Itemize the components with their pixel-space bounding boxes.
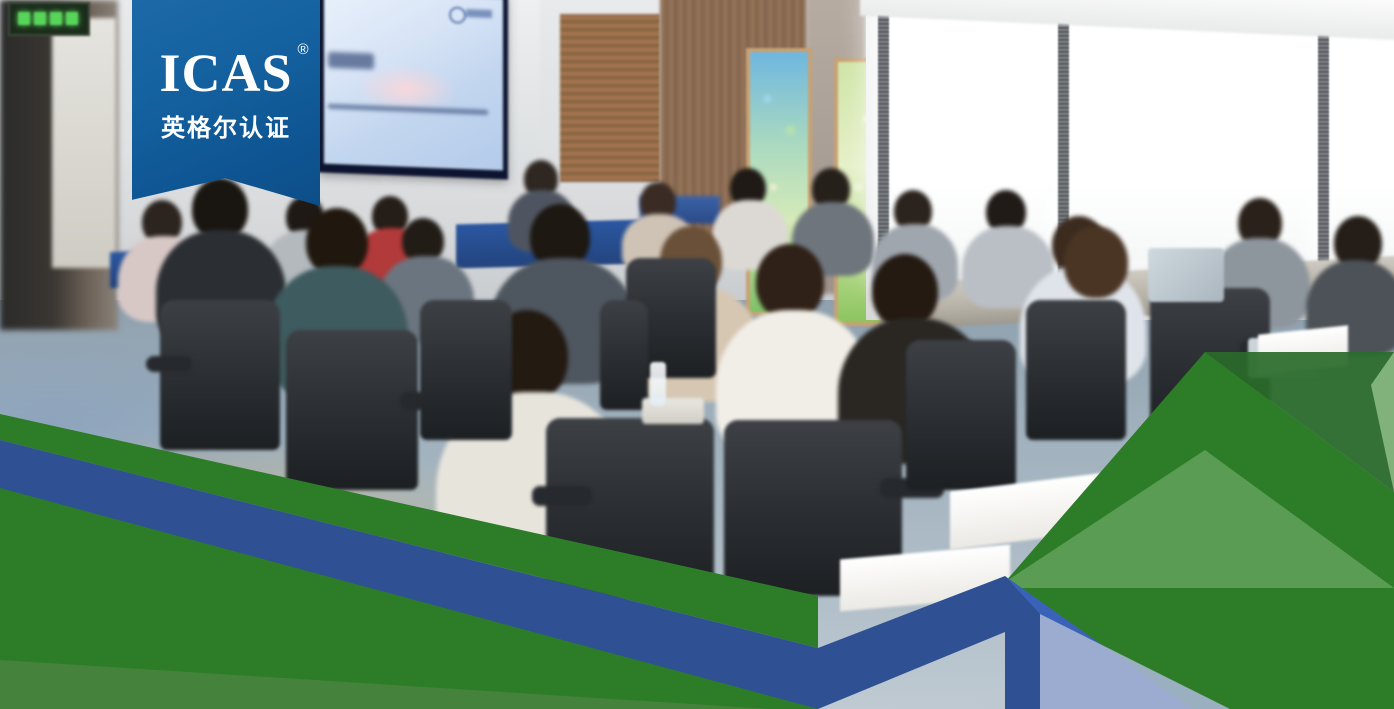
banner-root: ICAS ® 英格尔认证 xyxy=(0,0,1394,709)
icas-chinese-name: 英格尔认证 xyxy=(132,108,320,143)
registered-trademark-icon: ® xyxy=(297,42,309,57)
icas-logo-badge[interactable]: ICAS ® 英格尔认证 xyxy=(132,0,320,206)
icas-logo-inner: ICAS ® 英格尔认证 xyxy=(132,46,320,143)
icas-wordmark-text: ICAS xyxy=(159,43,292,103)
icas-wordmark: ICAS ® xyxy=(159,46,292,100)
